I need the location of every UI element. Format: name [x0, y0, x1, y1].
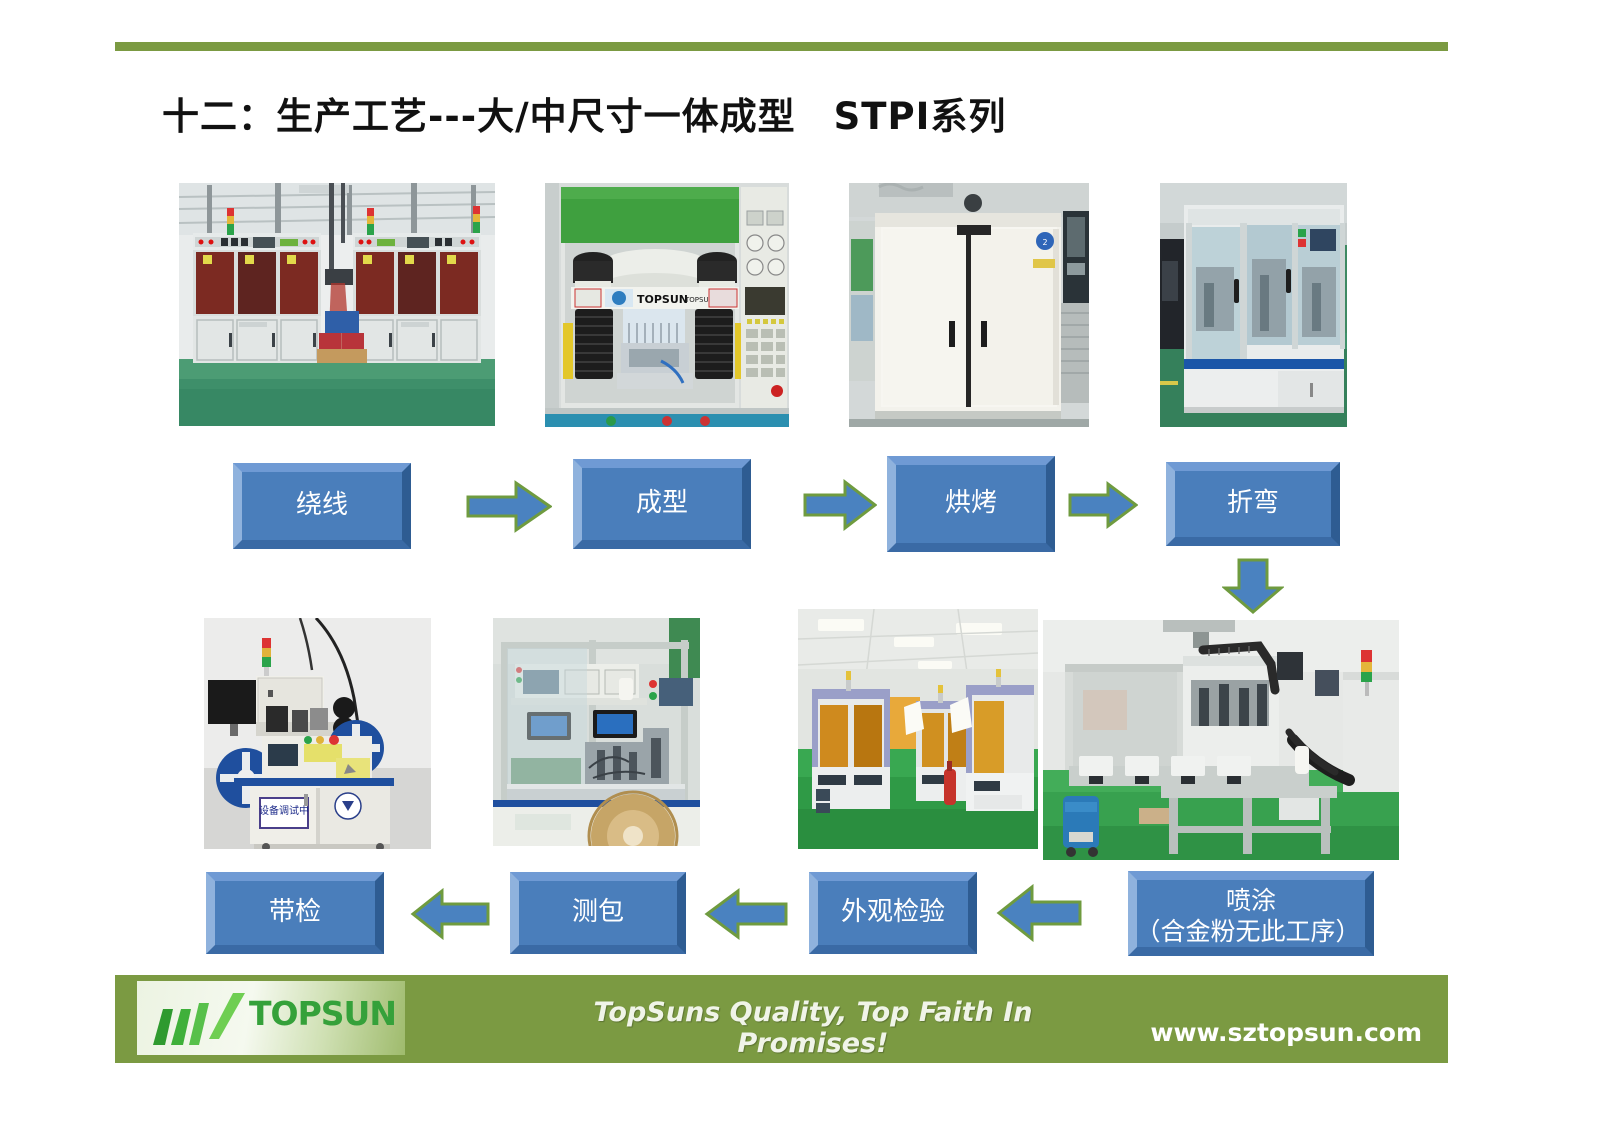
arrow-testpack-to-tape — [410, 888, 490, 940]
topsun-logo-mark — [147, 991, 247, 1045]
photo-winding-machines — [179, 183, 495, 426]
svg-text:2: 2 — [1042, 238, 1047, 247]
slide-canvas: 十二：生产工艺---大/中尺寸一体成型 STPI系列 — [0, 0, 1600, 1131]
photo-spraying-line — [1043, 620, 1399, 860]
photo-tape-inspection-machine: 设备调试中 — [204, 618, 431, 849]
process-box-baking[interactable]: 烘烤 — [887, 456, 1055, 552]
spraying-label-line2: （合金粉无此工序） — [1135, 917, 1360, 948]
arrow-bending-to-spraying — [1222, 558, 1284, 614]
page-title: 十二：生产工艺---大/中尺寸一体成型 STPI系列 — [162, 86, 1006, 140]
photo-baking-oven: 2 — [849, 183, 1089, 427]
process-box-bending[interactable]: 折弯 — [1166, 462, 1340, 546]
footer-tagline: TopSuns Quality, Top Faith In Promises! — [533, 997, 1093, 1059]
process-box-winding[interactable]: 绕线 — [233, 463, 411, 549]
svg-text:设备调试中: 设备调试中 — [259, 804, 309, 817]
footer-website[interactable]: www.sztopsun.com — [1150, 1018, 1422, 1047]
arrow-spraying-to-appearance — [996, 884, 1082, 942]
arrow-baking-to-bending — [1068, 481, 1138, 529]
topsun-logo: TOPSUN — [137, 981, 405, 1055]
footer-bar: TOPSUN TopSuns Quality, Top Faith In Pro… — [115, 975, 1448, 1063]
arrow-molding-to-baking — [803, 479, 877, 531]
process-box-appearance-inspection[interactable]: 外观检验 — [809, 872, 977, 954]
arrow-winding-to-molding — [466, 479, 552, 534]
spraying-label-line1: 喷涂 — [1141, 886, 1360, 917]
photo-molding-press: TOPSUN TOPSUN AUTO — [545, 183, 789, 427]
process-box-molding[interactable]: 成型 — [573, 459, 751, 549]
process-box-test-packing[interactable]: 测包 — [510, 872, 686, 954]
photo-appearance-inspection-room — [798, 609, 1038, 849]
topsun-logo-text: TOPSUN — [249, 994, 396, 1033]
photo-test-packing-line — [493, 618, 700, 846]
arrow-appearance-to-testpack — [704, 888, 788, 940]
process-box-spraying[interactable]: 喷涂 （合金粉无此工序） — [1128, 871, 1374, 956]
process-box-tape-inspection[interactable]: 带检 — [206, 872, 384, 954]
svg-text:TOPSUN: TOPSUN — [637, 293, 688, 306]
photo-bending-machine — [1160, 183, 1347, 427]
top-accent-rule — [115, 42, 1448, 51]
